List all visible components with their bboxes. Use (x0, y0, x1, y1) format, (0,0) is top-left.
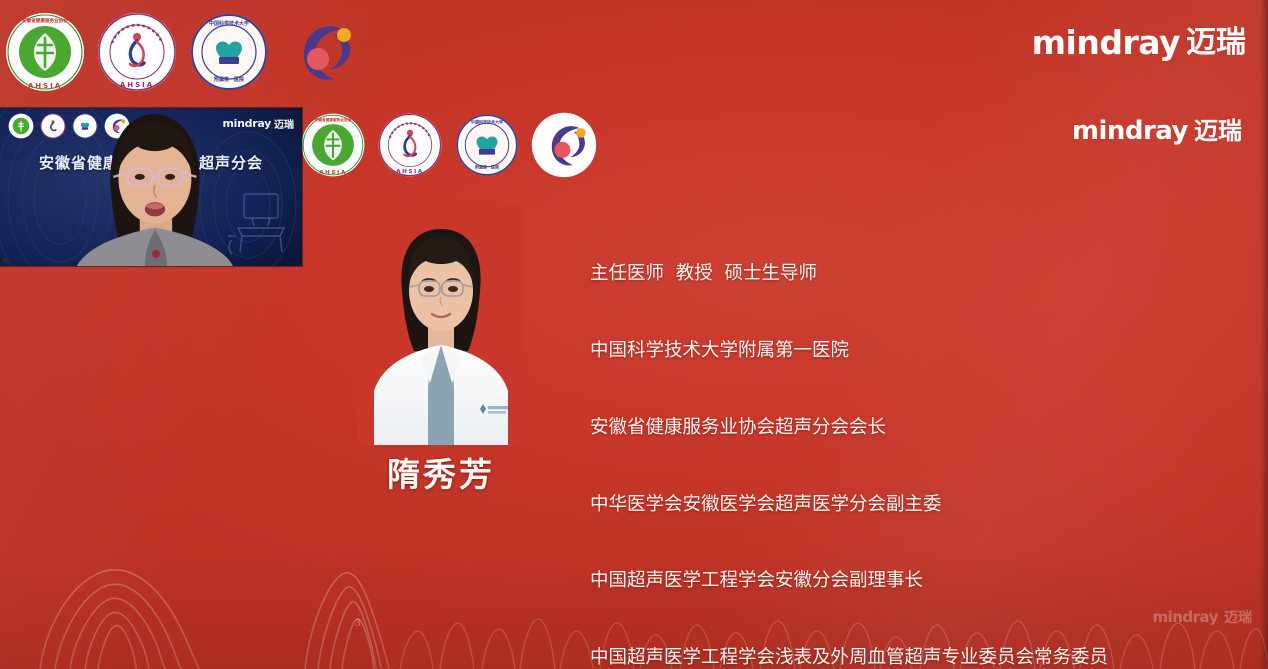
mindray-logo-slide: mindray 迈瑞 (1072, 118, 1242, 144)
ahsia-green-emblem-icon: 安徽省健康服务业协会 AHSIA (4, 11, 86, 93)
hospital-heart-emblem-icon: 中国科学技术大学 附属第一医院 (454, 112, 520, 178)
svg-text:安徽省健康服务业协会: 安徽省健康服务业协会 (315, 117, 352, 122)
top-logo-strip: 安徽省健康服务业协会 AHSIA AHSIA (4, 6, 362, 98)
mindray-wordmark-zh: 迈瑞 (1186, 28, 1246, 58)
mindray-wordmark-en: mindray (1032, 26, 1180, 59)
mindray-wordmark-zh: 迈瑞 (1194, 119, 1242, 143)
mindray-logo-top: mindray 迈瑞 (1032, 26, 1246, 59)
credential-line: 安徽省健康服务业协会超声分会会长 (590, 415, 1230, 441)
svg-text:AHSIA: AHSIA (120, 81, 154, 89)
credential-line: 主任医师 教授 硕士生导师 (590, 261, 1230, 287)
svg-text:AHSIA: AHSIA (319, 170, 347, 176)
speaker-portrait (358, 205, 524, 445)
credential-line: 中国超声医学工程学会安徽分会副理事长 (590, 568, 1230, 594)
ahsia-figure-emblem-icon: AHSIA (377, 112, 443, 178)
svg-text:中国科学技术大学: 中国科学技术大学 (471, 118, 503, 124)
speaker-name: 隋秀芳 (358, 448, 524, 496)
svg-text:附属第一医院: 附属第一医院 (214, 76, 244, 83)
presentation-screen: 安徽省健康服务业协会 AHSIA AHSIA (0, 0, 1268, 669)
mindray-wordmark-zh: 迈瑞 (1224, 611, 1252, 625)
mindray-wordmark-en: mindray (1152, 610, 1218, 625)
credential-line: 中国科学技术大学附属第一医院 (590, 338, 1230, 364)
svg-text:AHSIA: AHSIA (396, 169, 424, 175)
slide-logo-row: 安徽省健康服务业协会 AHSIA AHSIA (300, 112, 597, 178)
svg-text:AHSIA: AHSIA (28, 82, 62, 90)
ahsia-green-emblem-icon: 安徽省健康服务业协会 AHSIA (300, 112, 366, 178)
speaker-credentials: 主任医师 教授 硕士生导师 中国科学技术大学附属第一医院 安徽省健康服务业协会超… (590, 210, 1230, 669)
ahsia-figure-emblem-icon: AHSIA (96, 11, 178, 93)
webcam-speaker-figure (0, 108, 302, 266)
mother-child-emblem-icon (531, 112, 597, 178)
credential-line: 中国超声医学工程学会浅表及外周血管超声专业委员会常务委员 (590, 645, 1230, 669)
mindray-watermark: mindray 迈瑞 (1152, 610, 1252, 625)
svg-text:安徽省健康服务业协会: 安徽省健康服务业协会 (22, 17, 68, 24)
right-edge-shadow (1260, 0, 1268, 669)
slide-page-number: 3 (355, 617, 361, 629)
credential-line: 中华医学会安徽医学会超声医学分会副主委 (590, 492, 1230, 518)
webcam-indicator-dot (3, 258, 8, 263)
webcam-video-overlay[interactable]: mindray 迈瑞 安徽省健康服务业协会超声分会 学术论坛 (0, 108, 302, 266)
mindray-wordmark-en: mindray (1072, 118, 1188, 144)
svg-text:附属第一医院: 附属第一医院 (475, 163, 499, 169)
svg-text:中国科学技术大学: 中国科学技术大学 (209, 20, 249, 27)
hospital-heart-emblem-icon: 中国科学技术大学 附属第一医院 (188, 11, 270, 93)
mother-child-emblem-icon (280, 11, 362, 93)
